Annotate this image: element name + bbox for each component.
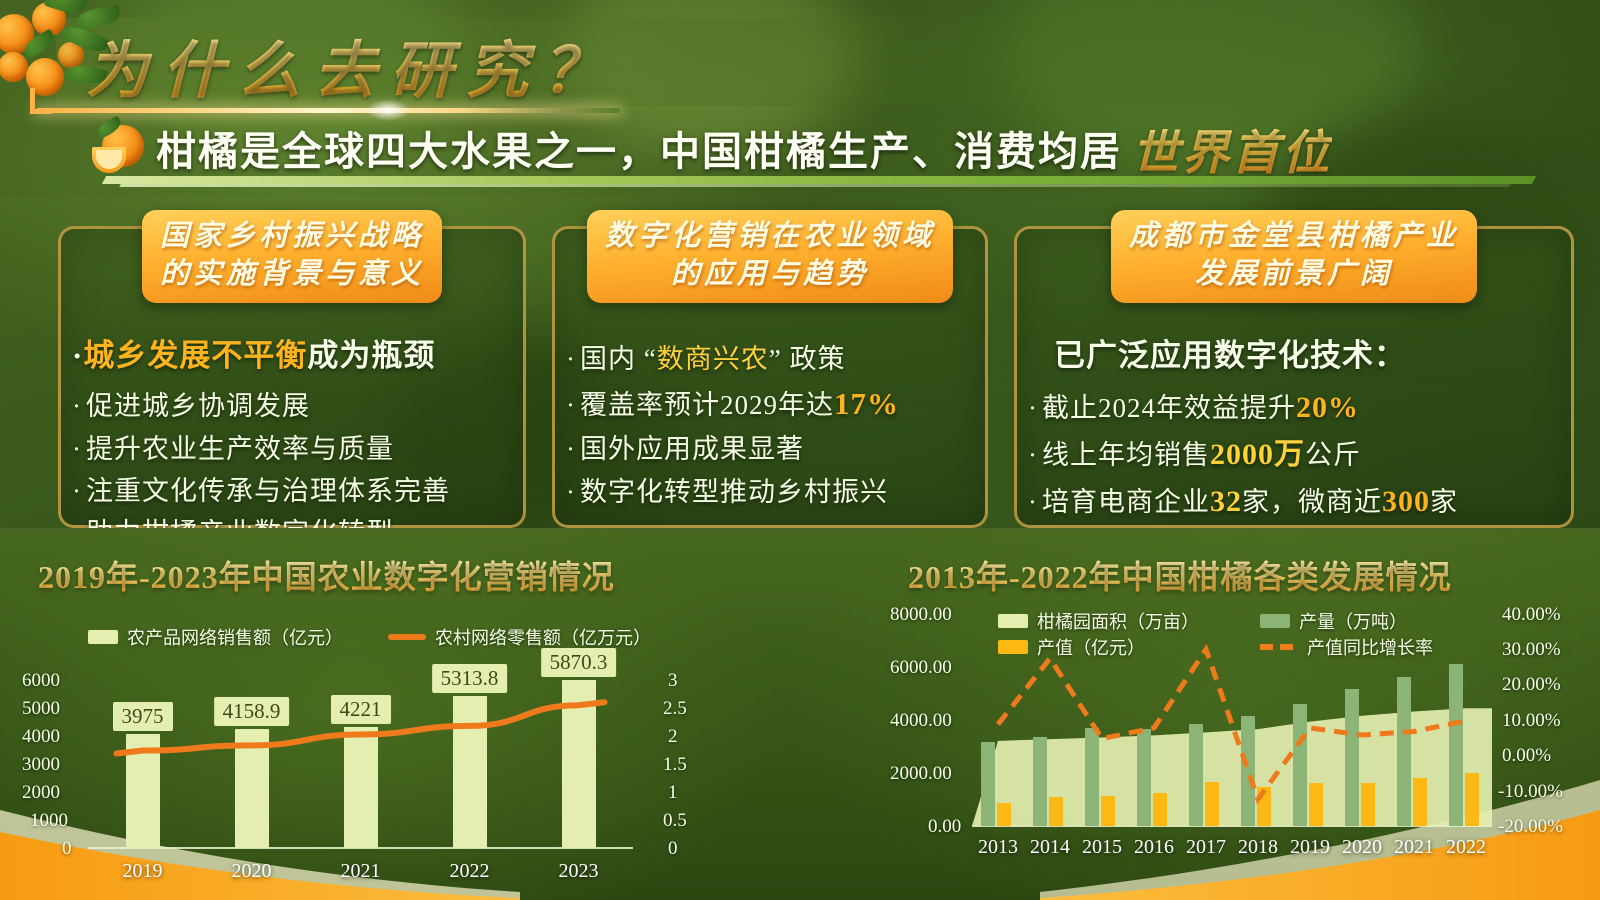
legend-item-bar: 农产品网络销售额（亿元） (88, 624, 343, 650)
y-tick-right: 1 (668, 782, 678, 804)
y-tick-left: 6000.00 (890, 657, 952, 679)
panel-digital-marketing: 数字化营销在农业领域 的应用与趋势 ·国内 “数商兴农” 政策 ·覆盖率预计20… (552, 226, 988, 528)
x-tick-label: 2013 (978, 836, 1018, 859)
list-item-highlight: 数商兴农 (657, 344, 769, 374)
y-tick-left: 0.00 (928, 816, 961, 838)
list-item-label: 培育电商企业 (1042, 487, 1210, 517)
y-tick-right: 30.00% (1502, 639, 1561, 661)
y-tick-right: 40.00% (1502, 604, 1561, 626)
x-tick-label: 2021 (1394, 836, 1434, 859)
x-tick-label: 2019 (1290, 836, 1330, 859)
list-item-highlight: 2000万 (1210, 438, 1305, 471)
chart-citrus-development: 2013年-2022年中国柑橘各类发展情况 柑橘园面积（万亩） 产量（万吨） 产… (880, 530, 1600, 900)
y-tick-left: 5000 (22, 698, 60, 720)
y-tick-right: 20.00% (1502, 674, 1561, 696)
list-item-label-post: 公斤 (1305, 440, 1361, 470)
charts-region: 2019年-2023年中国农业数字化营销情况 农产品网络销售额（亿元） 农村网络… (0, 528, 1600, 900)
legend-label: 农产品网络销售额（亿元） (127, 624, 343, 650)
y-tick-right: 2 (668, 726, 678, 748)
list-item: ·数字化转型推动乡村振兴 (566, 471, 978, 513)
x-tick-label: 2022 (1446, 836, 1486, 859)
page-title: 为什么去研究？ (86, 20, 618, 110)
list-item-label: 线上年均销售 (1042, 440, 1210, 470)
x-tick-label: 2016 (1134, 836, 1174, 859)
y-tick-right: 1.5 (663, 754, 687, 776)
y-tick-right: 0 (668, 838, 678, 860)
x-tick-label: 2021 (341, 860, 381, 883)
y-tick-right: 0.5 (663, 810, 687, 832)
panel-lead: 已广泛应用数字化技术： (1028, 334, 1564, 377)
y-tick-right: -10.00% (1498, 781, 1563, 803)
panel-heading-line1: 国家乡村振兴战略 (160, 218, 424, 256)
y-tick-left: 1000 (30, 810, 68, 832)
panel-heading: 国家乡村振兴战略 的实施背景与意义 (142, 210, 442, 303)
legend-item-line: 农村网络零售额（亿万元） (388, 624, 651, 650)
header-band: 为什么去研究？ 柑橘是全球四大水果之一，中国柑橘生产、消费均居 世界首位 (0, 0, 1600, 196)
subtitle-highlight: 世界首位 (1132, 114, 1332, 183)
growth-line-series (972, 612, 1492, 826)
list-item-label: 国外应用成果显著 (580, 434, 804, 464)
list-item-highlight: 20% (1296, 391, 1359, 424)
list-item-label: 促进城乡协调发展 (86, 391, 310, 421)
legend-swatch-bar (88, 630, 118, 644)
subtitle-text: 柑橘是全球四大水果之一，中国柑橘生产、消费均居 (156, 119, 1122, 177)
list-item-label-post: ” 政策 (769, 344, 846, 374)
y-tick-left: 6000 (22, 670, 60, 692)
panel-heading-line1: 数字化营销在农业领域 (605, 218, 935, 256)
panel-jintang-citrus: 成都市金堂县柑橘产业 发展前景广阔 已广泛应用数字化技术： ·截止2024年效益… (1014, 226, 1574, 528)
legend-label: 农村网络零售额（亿万元） (435, 624, 651, 650)
panel-rural-revitalization: 国家乡村振兴战略 的实施背景与意义 ·城乡发展不平衡成为瓶颈 ·促进城乡协调发展… (58, 226, 526, 528)
panel-body: 已广泛应用数字化技术： ·截止2024年效益提升20% ·线上年均销售2000万… (1028, 334, 1564, 526)
x-tick-label: 2014 (1030, 836, 1070, 859)
x-tick-label: 2019 (123, 860, 163, 883)
bar-value-label: 5870.3 (541, 648, 617, 677)
panel-body: ·国内 “数商兴农” 政策 ·覆盖率预计2029年达17% ·国外应用成果显著 … (566, 338, 978, 513)
list-item-label-post: 家，微商近 (1242, 487, 1382, 517)
x-tick-label: 2020 (1342, 836, 1382, 859)
panel-lead-rest: 成为瓶颈 (307, 338, 435, 373)
panel-lead: ·城乡发展不平衡成为瓶颈 (72, 334, 516, 377)
list-item: ·截止2024年效益提升20% (1028, 385, 1564, 432)
slide-canvas: 为什么去研究？ 柑橘是全球四大水果之一，中国柑橘生产、消费均居 世界首位 国家乡… (0, 0, 1600, 900)
y-tick-left: 0 (62, 838, 72, 860)
list-item: ·覆盖率预计2029年达17% (566, 380, 978, 428)
list-item-label: 覆盖率预计2029年达 (580, 390, 834, 420)
y-tick-right: 3 (668, 670, 678, 692)
list-item: ·培育电商企业32家，微商近300家 (1028, 479, 1564, 526)
panel-heading: 数字化营销在农业领域 的应用与趋势 (587, 210, 953, 303)
y-tick-left: 2000.00 (890, 763, 952, 785)
y-tick-right: -20.00% (1498, 816, 1563, 838)
panel-body: ·城乡发展不平衡成为瓶颈 ·促进城乡协调发展 ·提升农业生产效率与质量 ·注重文… (72, 334, 516, 554)
list-item-label: 提升农业生产效率与质量 (86, 434, 394, 464)
panel-lead-highlight: 城乡发展不平衡 (83, 338, 307, 373)
bar-value-label: 4221 (331, 695, 391, 724)
panel-heading: 成都市金堂县柑橘产业 发展前景广阔 (1111, 210, 1477, 303)
y-tick-right: 2.5 (663, 698, 687, 720)
chart-title: 2013年-2022年中国柑橘各类发展情况 (908, 552, 1452, 598)
panel-heading-line2: 发展前景广阔 (1195, 256, 1393, 294)
list-item-highlight: 32 (1210, 485, 1242, 518)
title-corner-bracket (30, 88, 52, 114)
panel-heading-line2: 的应用与趋势 (671, 256, 869, 294)
subtitle-row: 柑橘是全球四大水果之一，中国柑橘生产、消费均居 世界首位 (92, 112, 1532, 184)
plot-area (972, 612, 1492, 826)
list-item-label: 国内 “ (580, 344, 657, 374)
list-item: ·线上年均销售2000万公斤 (1028, 432, 1564, 479)
list-item-label: 截止2024年效益提升 (1042, 393, 1296, 423)
y-tick-left: 4000 (22, 726, 60, 748)
x-tick-label: 2020 (232, 860, 272, 883)
y-tick-left: 2000 (22, 782, 60, 804)
list-item: ·促进城乡协调发展 (72, 385, 516, 427)
y-tick-left: 8000.00 (890, 604, 952, 626)
chart-agri-digital-marketing: 2019年-2023年中国农业数字化营销情况 农产品网络销售额（亿元） 农村网络… (0, 530, 690, 900)
panel-heading-line2: 的实施背景与意义 (160, 256, 424, 294)
y-tick-right: 10.00% (1502, 710, 1561, 732)
bar-value-label: 5313.8 (432, 664, 508, 693)
list-item: ·国内 “数商兴农” 政策 (566, 338, 978, 380)
list-item-highlight-2: 300 (1382, 485, 1430, 518)
panel-heading-line1: 成都市金堂县柑橘产业 (1129, 218, 1459, 256)
list-item-label-post2: 家 (1430, 487, 1458, 517)
bar-value-label: 4158.9 (214, 697, 290, 726)
subtitle-rule-thin (119, 184, 1511, 187)
orange-fruit-icon (0, 52, 28, 82)
list-item: ·注重文化传承与治理体系完善 (72, 470, 516, 512)
x-tick-label: 2018 (1238, 836, 1278, 859)
y-tick-left: 3000 (22, 754, 60, 776)
legend-swatch-line (388, 634, 426, 640)
bar-value-label: 3975 (113, 702, 173, 731)
y-tick-left: 4000.00 (890, 710, 952, 732)
x-tick-label: 2023 (559, 860, 599, 883)
list-item: ·国外应用成果显著 (566, 428, 978, 470)
list-item-label: 注重文化传承与治理体系完善 (86, 476, 450, 506)
orange-slice-icon (92, 121, 150, 175)
subtitle-rule (102, 176, 1536, 184)
x-tick-label: 2022 (450, 860, 490, 883)
chart-title: 2019年-2023年中国农业数字化营销情况 (38, 552, 615, 598)
x-tick-label: 2017 (1186, 836, 1226, 859)
y-tick-right: 0.00% (1502, 745, 1551, 767)
list-item-label: 数字化转型推动乡村振兴 (580, 477, 888, 507)
list-item: ·提升农业生产效率与质量 (72, 428, 516, 470)
x-tick-label: 2015 (1082, 836, 1122, 859)
list-item-highlight: 17% (834, 386, 899, 421)
